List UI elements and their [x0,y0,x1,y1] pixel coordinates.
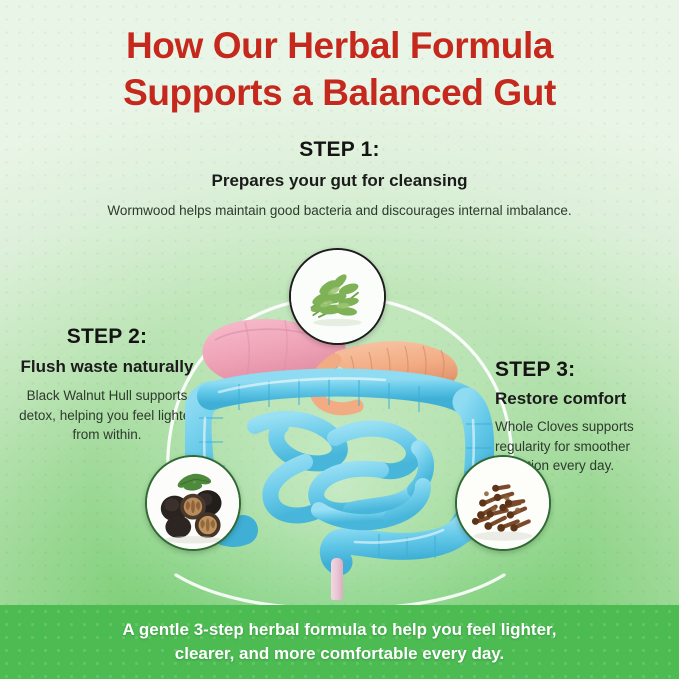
whole-cloves-icon [457,457,549,549]
digestive-system-illustration [185,300,495,600]
step-1-description: Wormwood helps maintain good bacteria an… [0,201,679,221]
step-3-description-line-1: Whole Cloves supports [495,419,634,434]
wormwood-sprig-icon [291,250,384,343]
step-3-description-line-2: regularity for smoother [495,439,630,454]
banner-line-2: clearer, and more comfortable every day. [123,642,557,666]
whole-cloves-herb-circle [455,455,551,551]
page-title: How Our Herbal Formula Supports a Balanc… [0,22,679,117]
black-walnut-icon [147,457,239,549]
black-walnut-herb-circle [145,455,241,551]
step-1-description-line-1: Wormwood helps maintain good bacteria an… [107,203,378,218]
step-3-heading: STEP 3: [495,358,675,382]
title-line-2: Supports a Balanced Gut [0,69,679,116]
step-2-subheading-line-2: naturally [123,357,194,376]
title-line-1: How Our Herbal Formula [0,22,679,69]
step-2-subheading-line-1: Flush waste [21,357,118,376]
step-2-heading: STEP 2: [14,325,200,349]
step-2-description-line-1: Black Walnut Hull [27,388,132,403]
step-1-block: STEP 1: Prepares your gut for cleansing … [0,138,679,221]
banner-line-1: A gentle 3-step herbal formula to help y… [123,618,557,642]
step-1-description-line-2: discourages internal imbalance. [382,203,572,218]
step-2-description: Black Walnut Hull supports detox, helpin… [14,386,200,445]
step-2-block: STEP 2: Flush waste naturally Black Waln… [14,325,200,445]
step-3-subheading: Restore comfort [495,389,675,409]
step-2-description-line-3: helping you feel [60,408,155,423]
infographic-root: How Our Herbal Formula Supports a Balanc… [0,0,679,679]
banner-text: A gentle 3-step herbal formula to help y… [123,618,557,666]
step-2-subheading: Flush waste naturally [14,356,200,378]
wormwood-herb-circle [289,248,386,345]
bottom-banner: A gentle 3-step herbal formula to help y… [0,605,679,679]
step-1-heading: STEP 1: [0,138,679,162]
step-1-subheading: Prepares your gut for cleansing [0,171,679,191]
